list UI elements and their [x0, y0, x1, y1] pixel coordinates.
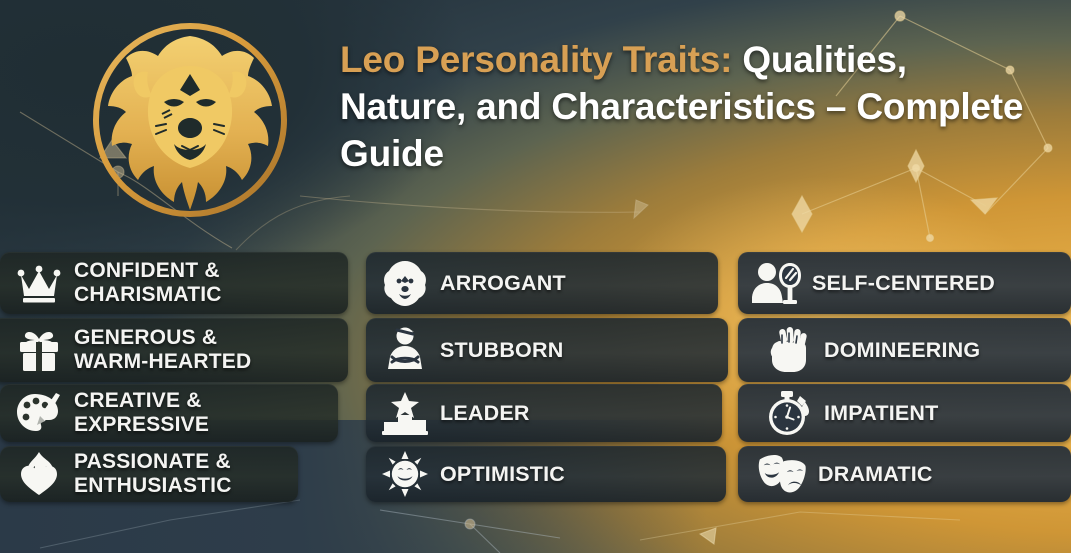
trait-label: SELF-CENTERED: [812, 271, 995, 295]
stopwatch-icon: [764, 388, 814, 438]
trait-label: ARROGANT: [440, 271, 566, 295]
header: Leo Personality Traits: Qualities, Natur…: [0, 0, 1071, 240]
podium-star-icon: [380, 388, 430, 438]
palette-icon: [14, 388, 64, 438]
trait-column-positive: CONFIDENT & CHARISMATIC GENEROUS & WARM-…: [0, 252, 356, 502]
lion-head-icon: [380, 258, 430, 308]
trait-label: CREATIVE & EXPRESSIVE: [74, 389, 209, 437]
trait-label: OPTIMISTIC: [440, 462, 565, 486]
raised-fist-icon: [764, 325, 814, 375]
trait-label: DRAMATIC: [818, 462, 933, 486]
trait-card-arrogant[interactable]: ARROGANT: [366, 252, 718, 314]
trait-card-creative-expressive[interactable]: CREATIVE & EXPRESSIVE: [0, 384, 338, 442]
trait-label: STUBBORN: [440, 338, 563, 362]
trait-card-generous-warmhearted[interactable]: GENEROUS & WARM-HEARTED: [0, 318, 348, 382]
trait-card-passionate-enthusiastic[interactable]: PASSIONATE & ENTHUSIASTIC: [0, 446, 298, 502]
trait-label: IMPATIENT: [824, 401, 938, 425]
lion-head-emblem-icon: [78, 14, 302, 226]
infographic-canvas: Leo Personality Traits: Qualities, Natur…: [0, 0, 1071, 553]
trait-label: LEADER: [440, 401, 530, 425]
traits-grid: CONFIDENT & CHARISMATIC GENEROUS & WARM-…: [0, 252, 1071, 502]
trait-card-optimistic[interactable]: OPTIMISTIC: [366, 446, 726, 502]
theater-masks-icon: [758, 449, 808, 499]
trait-label: PASSIONATE & ENTHUSIASTIC: [74, 450, 232, 498]
person-mirror-icon: [752, 258, 802, 308]
trait-label: DOMINEERING: [824, 338, 980, 362]
page-title: Leo Personality Traits: Qualities, Natur…: [340, 36, 1040, 177]
trait-card-confident-charismatic[interactable]: CONFIDENT & CHARISMATIC: [0, 252, 348, 314]
trait-card-domineering[interactable]: DOMINEERING: [738, 318, 1071, 382]
trait-card-stubborn[interactable]: STUBBORN: [366, 318, 728, 382]
lion-emblem-logo: [78, 14, 302, 226]
trait-column-negative: SELF-CENTERED DOMINEERIN: [738, 252, 1071, 502]
trait-label: CONFIDENT & CHARISMATIC: [74, 259, 222, 307]
gift-icon: [14, 325, 64, 375]
trait-card-dramatic[interactable]: DRAMATIC: [738, 446, 1071, 502]
trait-card-impatient[interactable]: IMPATIENT: [738, 384, 1071, 442]
trait-label: GENEROUS & WARM-HEARTED: [74, 326, 251, 374]
flaming-heart-icon: [14, 449, 64, 499]
title-accent: Leo Personality Traits:: [340, 39, 732, 80]
crossed-arms-icon: [380, 325, 430, 375]
crown-icon: [14, 258, 64, 308]
smiling-sun-icon: [380, 449, 430, 499]
trait-card-self-centered[interactable]: SELF-CENTERED: [738, 252, 1071, 314]
trait-card-leader[interactable]: LEADER: [366, 384, 722, 442]
trait-column-mixed: ARROGANT STUBBORN: [366, 252, 728, 502]
